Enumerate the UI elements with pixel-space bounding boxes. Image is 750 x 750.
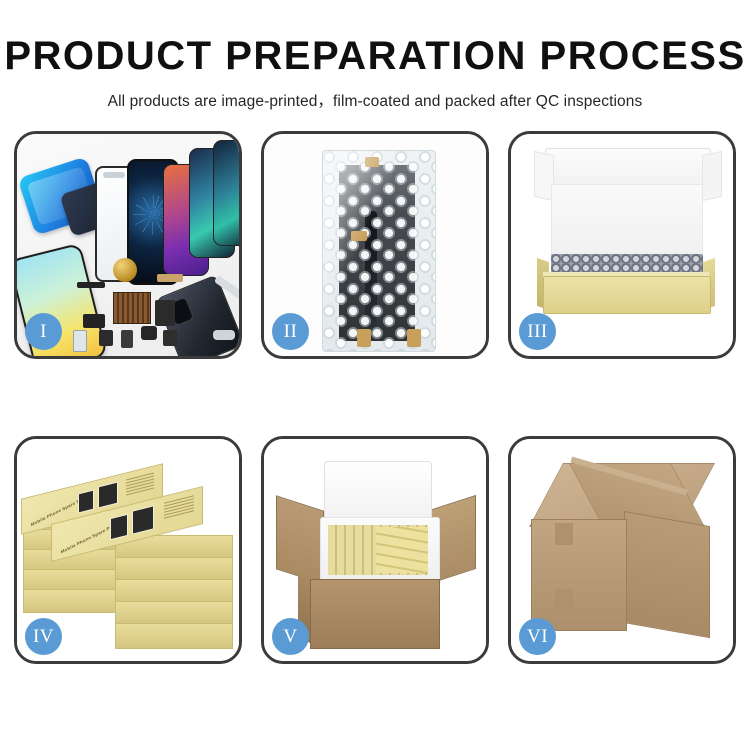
carton-right-face-icon [624,511,710,638]
copper-connector-icon [157,274,183,282]
bubble-wrap-bag-icon [322,150,436,352]
page-title: PRODUCT PREPARATION PROCESS [0,36,750,76]
screwdriver-icon [213,330,235,340]
sim-tray-icon [121,330,133,348]
header: PRODUCT PREPARATION PROCESS All products… [0,0,750,111]
carton-front-face-icon [531,519,627,631]
step-badge-6: VI [519,618,556,655]
step-panel-2[interactable]: II [261,131,489,359]
product-preparation-infographic: PRODUCT PREPARATION PROCESS All products… [0,0,750,750]
process-steps-grid: I II [14,131,736,664]
logic-board-icon [113,292,151,324]
packed-yellow-boxes-secondary-icon [376,527,428,573]
speaker-module-icon [113,258,137,282]
foam-sheet-icon [551,184,703,258]
step-panel-6[interactable]: VI [508,436,736,664]
bracket-icon [99,330,113,346]
foam-box-lid-icon [324,461,432,525]
step-panel-3[interactable]: III [508,131,736,359]
step-badge-1: I [25,313,62,350]
carton-tab-lower-icon [555,589,573,609]
step-badge-3: III [519,313,556,350]
phone-display-gold-icon [213,140,239,246]
small-part-icon [83,314,105,328]
box-front-panel-icon [543,276,711,314]
carton-body-icon [310,579,440,649]
step-badge-5: V [272,618,309,655]
battery-icon [73,330,87,352]
step-panel-1[interactable]: I [14,131,242,359]
camera-module-icon [155,300,175,326]
step-badge-4: IV [25,618,62,655]
vibrator-icon [141,326,157,340]
step-badge-2: II [272,313,309,350]
step-panel-4[interactable]: Mobile Phone Spare Parts Mobile Phone Sp… [14,436,242,664]
flex-cable-icon [77,282,105,288]
carton-flap-left-icon [276,495,324,585]
step-panel-5[interactable]: V [261,436,489,664]
page-subtitle: All products are image-printed，film-coat… [0,89,750,111]
carton-tab-upper-icon [555,523,573,545]
button-part-icon [163,330,177,346]
